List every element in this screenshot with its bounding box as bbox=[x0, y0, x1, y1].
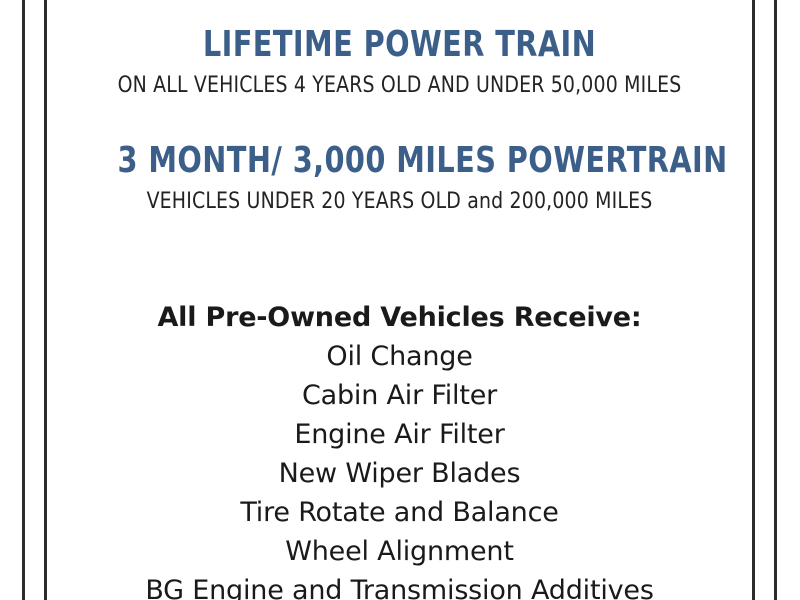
three-month-powertrain-headline: 3 MONTH/ 3,000 MILES POWERTRAIN bbox=[118, 140, 682, 182]
lifetime-powertrain-subhead: ON ALL VEHICLES 4 YEARS OLD AND UNDER 50… bbox=[96, 72, 702, 100]
list-item: Tire Rotate and Balance bbox=[47, 493, 752, 532]
services-section: All Pre-Owned Vehicles Receive: Oil Chan… bbox=[47, 298, 752, 600]
list-item: New Wiper Blades bbox=[47, 454, 752, 493]
lifetime-powertrain-headline: LIFETIME POWER TRAIN bbox=[118, 24, 682, 66]
flyer-page: LIFETIME POWER TRAIN ON ALL VEHICLES 4 Y… bbox=[0, 0, 800, 600]
warranty-block-3month: 3 MONTH/ 3,000 MILES POWERTRAIN VEHICLES… bbox=[47, 140, 752, 216]
three-month-powertrain-subhead: VEHICLES UNDER 20 YEARS OLD and 200,000 … bbox=[96, 188, 702, 216]
list-item: Oil Change bbox=[47, 337, 752, 376]
right-inner-rule bbox=[752, 0, 755, 600]
list-item: Cabin Air Filter bbox=[47, 376, 752, 415]
services-list: Oil Change Cabin Air Filter Engine Air F… bbox=[47, 337, 752, 600]
list-item: Engine Air Filter bbox=[47, 415, 752, 454]
services-title: All Pre-Owned Vehicles Receive: bbox=[47, 298, 752, 337]
flyer-content: LIFETIME POWER TRAIN ON ALL VEHICLES 4 Y… bbox=[47, 0, 752, 600]
list-item: Wheel Alignment bbox=[47, 532, 752, 571]
warranty-block-lifetime: LIFETIME POWER TRAIN ON ALL VEHICLES 4 Y… bbox=[47, 24, 752, 100]
right-outer-rule bbox=[774, 0, 777, 600]
left-outer-rule bbox=[22, 0, 25, 600]
list-item: BG Engine and Transmission Additives bbox=[47, 571, 752, 600]
